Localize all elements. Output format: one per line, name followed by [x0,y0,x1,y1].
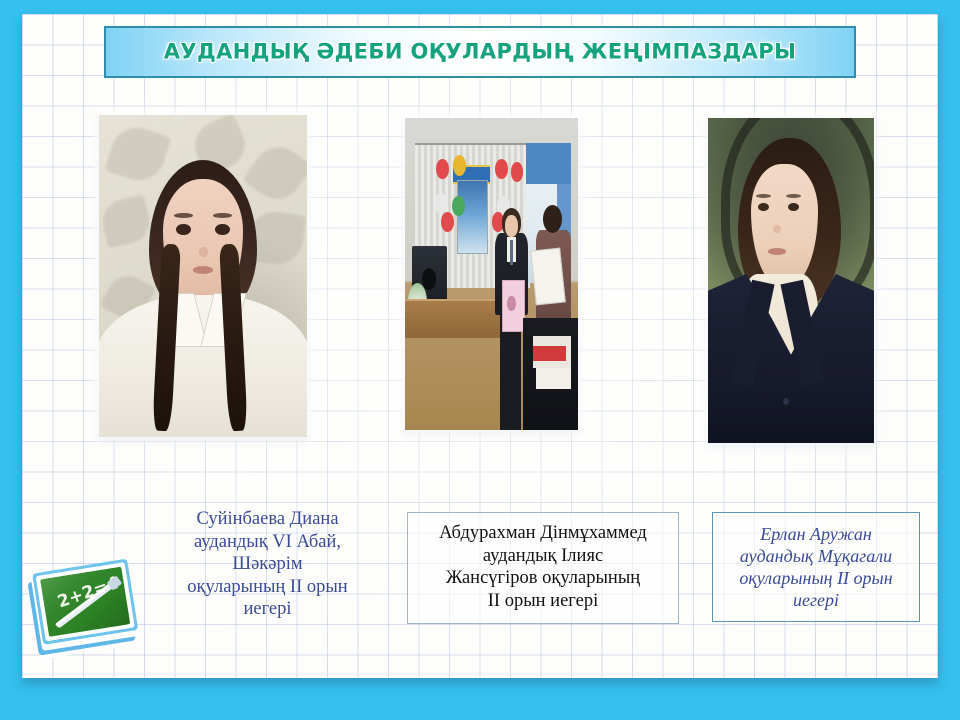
caption-line: оқуларының II орын [719,568,913,590]
photo-2-flower-decor [436,159,449,179]
caption-line: Суйінбаева Диана [162,508,373,531]
chalkboard-icon: 2+2=4 [20,548,148,666]
photo-2-flower-decor [495,159,508,179]
photo-1-blouse [99,295,307,437]
photo-1-wallpaper [99,115,307,437]
slide-root: АУДАНДЫҚ ӘДЕБИ ОҚУЛАРДЫҢ ЖЕҢІМПАЗДАРЫ АУ… [0,0,960,720]
wallpaper-leaf-icon [105,121,172,187]
photo-3-outdoor [708,118,874,443]
photo-2-flower-decor [452,196,465,216]
photo-2-held-papers [530,248,565,306]
caption-line: аудандық Ілияс [414,545,672,568]
caption-line: II орын иегері [414,590,672,613]
caption-line: иегері [162,598,373,621]
photo-2-loudspeaker-cone [422,268,436,290]
photo-3-mouth [768,248,786,255]
photo-2-poster [457,180,488,254]
photo-3-nose [773,225,781,233]
photo-1-eye-left [176,224,191,235]
caption-line: Абдурахман Дінмұхаммед [414,522,672,545]
caption-line: иегері [719,590,913,612]
caption-winner-3: Ерлан Аружан аудандық Мұқагали оқуларыны… [712,512,920,622]
photo-winner-1 [99,115,307,437]
photo-2-certificate-seal [507,296,516,312]
page-title: АУДАНДЫҚ ӘДЕБИ ОҚУЛАРДЫҢ ЖЕҢІМПАЗДАРЫ [106,40,854,64]
caption-line: Жансүгіров оқуларының [414,567,672,590]
title-banner: АУДАНДЫҚ ӘДЕБИ ОҚУЛАРДЫҢ ЖЕҢІМПАЗДАРЫ [104,26,856,78]
photo-2-hall [405,118,578,430]
caption-winner-1: Суйінбаева Диана аудандық VI Абай, Шәкәр… [160,504,375,625]
caption-line: оқуларының II орын [162,576,373,599]
wallpaper-leaf-icon [99,194,153,248]
photo-winner-2 [405,118,578,430]
photo-3-eye-right [788,203,800,211]
photo-2-blind [526,143,571,184]
caption-line: аудандық Мұқагали [719,546,913,568]
photo-1-eyebrow-left [174,213,193,218]
wallpaper-leaf-icon [243,138,307,209]
photo-2-red-folder [533,346,566,362]
photo-2-boy-face [505,215,518,237]
caption-line: Ерлан Аружан [719,524,913,546]
photo-winner-3 [708,118,874,443]
caption-line: Шәкәрім [162,553,373,576]
caption-line: аудандық VI Абай, [162,531,373,554]
photo-2-papers-stack [536,368,571,390]
caption-winner-2: Абдурахман Дінмұхаммед аудандық Ілияс Жа… [407,512,679,624]
photo-2-boy-tie [510,240,513,265]
photo-1-nose [199,247,208,257]
